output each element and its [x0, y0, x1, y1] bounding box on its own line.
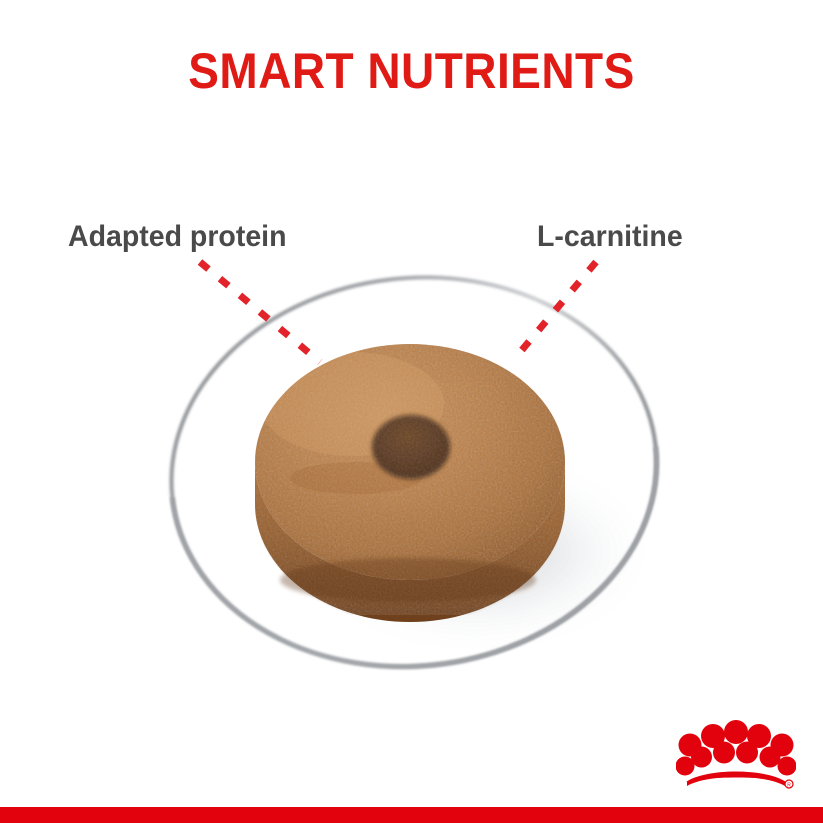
illustration-kibble-cross-section: [0, 0, 823, 823]
kibble-centre-hole: [372, 415, 450, 479]
illustration-svg: [0, 0, 823, 823]
royal-canin-crown-logo: R: [676, 718, 796, 792]
crown-logo-svg: R: [676, 718, 796, 792]
svg-text:R: R: [787, 782, 791, 788]
leader-line-adapted-protein: [200, 262, 320, 362]
footer-accent-bar: [0, 807, 823, 823]
leader-line-l-carnitine: [516, 262, 596, 357]
callout-label-l-carnitine: L-carnitine: [537, 220, 683, 254]
promo-panel: SMART NUTRIENTS: [0, 0, 823, 823]
callout-label-adapted-protein: Adapted protein: [68, 220, 287, 254]
kibble: [250, 340, 580, 622]
